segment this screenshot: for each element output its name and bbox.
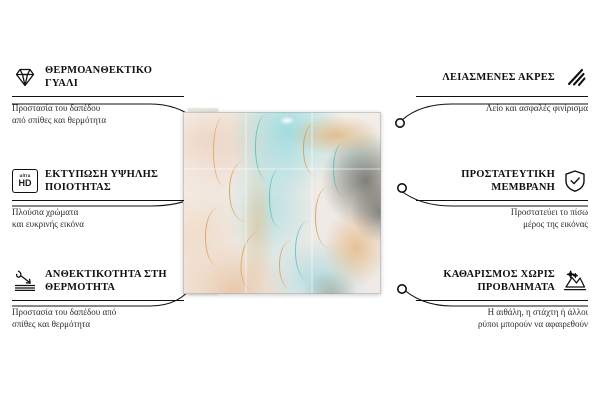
polished-edges-icon — [562, 64, 588, 90]
feature-title: ΚΑΘΑΡΙΣΜΟΣ ΧΩΡΙΣ ΠΡΟΒΛΗΜΑΤΑ — [416, 268, 555, 294]
desc-line: Προστατεύει το πίσω — [416, 206, 588, 218]
hd-label: HD — [19, 179, 32, 188]
feature-description: Λείο και ασφαλές φινίρισμα — [416, 102, 588, 114]
feature-description: Προστατεύει το πίσω μέρος της εικόνας — [416, 206, 588, 230]
feature-easy-cleaning: ΚΑΘΑΡΙΣΜΟΣ ΧΩΡΙΣ ΠΡΟΒΛΗΜΑΤΑ Η αιθάλη, η … — [416, 266, 588, 330]
easy-clean-icon — [562, 268, 588, 294]
desc-line: Η αιθάλη, η στάχτη ή άλλοι — [416, 306, 588, 318]
heat-deflection-icon — [12, 268, 38, 294]
feature-description: Η αιθάλη, η στάχτη ή άλλοι ρύποι μπορούν… — [416, 306, 588, 330]
divider — [416, 96, 588, 97]
feature-heat-resistant-glass: ΘΕΡΜΟΑΝΘΕΚΤΙΚΟ ΓΥΑΛΙ Προστασία του δαπέδ… — [12, 62, 184, 126]
divider — [416, 200, 588, 201]
ultra-hd-icon: ultra HD — [12, 169, 38, 193]
feature-title: ΛΕΙΑΣΜΕΝΕΣ ΑΚΡΕΣ — [416, 71, 555, 84]
desc-line: Προστασία του δαπέδου από — [12, 306, 184, 318]
desc-line: ρύποι μπορούν να αφαιρεθούν — [416, 318, 588, 330]
feature-high-quality-print: ultra HD ΕΚΤΥΠΩΣΗ ΥΨΗΛΗΣ ΠΟΙΟΤΗΤΑΣ Πλούσ… — [12, 166, 184, 230]
feature-heat-durability: ΑΝΘΕΚΤΙΚΟΤΗΤΑ ΣΤΗ ΘΕΡΜΟΤΗΤΑ Προστασία το… — [12, 266, 184, 330]
desc-line: σπίθες και θερμότητα — [12, 318, 184, 330]
desc-line: και ευκρινής εικόνα — [12, 218, 184, 230]
divider — [12, 300, 184, 301]
diamond-icon — [12, 64, 38, 90]
highlight-spot — [279, 116, 295, 125]
infographic-root: ΘΕΡΜΟΑΝΘΕΚΤΙΚΟ ΓΥΑΛΙ Προστασία του δαπέδ… — [0, 0, 600, 400]
desc-line: από σπίθες και θερμότητα — [12, 114, 184, 126]
artwork — [183, 112, 381, 294]
desc-line: μέρος της εικόνας — [416, 218, 588, 230]
feature-title: ΠΡΟΣΤΑΤΕΥΤΙΚΗ ΜΕΜΒΡΑΝΗ — [416, 168, 555, 194]
feature-description: Προστασία του δαπέδου από σπίθες και θερ… — [12, 306, 184, 330]
divider — [416, 300, 588, 301]
divider — [12, 200, 184, 201]
desc-line: Πλούσια χρώματα — [12, 206, 184, 218]
desc-line: Προστασία του δαπέδου — [12, 102, 184, 114]
feature-description: Πλούσια χρώματα και ευκρινής εικόνα — [12, 206, 184, 230]
feature-protective-membrane: ΠΡΟΣΤΑΤΕΥΤΙΚΗ ΜΕΜΒΡΑΝΗ Προστατεύει το πί… — [416, 166, 588, 230]
glass-panel — [183, 112, 381, 294]
connector-dot-right-2 — [398, 184, 406, 192]
desc-line: Λείο και ασφαλές φινίρισμα — [416, 102, 588, 114]
connector-dot-right-3 — [398, 285, 406, 293]
artwork-veins — [183, 112, 381, 294]
feature-title: ΑΝΘΕΚΤΙΚΟΤΗΤΑ ΣΤΗ ΘΕΡΜΟΤΗΤΑ — [45, 268, 184, 294]
feature-title: ΕΚΤΥΠΩΣΗ ΥΨΗΛΗΣ ΠΟΙΟΤΗΤΑΣ — [45, 168, 184, 194]
feature-description: Προστασία του δαπέδου από σπίθες και θερ… — [12, 102, 184, 126]
divider — [12, 96, 184, 97]
feature-polished-edges: ΛΕΙΑΣΜΕΝΕΣ ΑΚΡΕΣ Λείο και ασφαλές φινίρι… — [416, 62, 588, 114]
shield-check-icon — [562, 168, 588, 194]
feature-title: ΘΕΡΜΟΑΝΘΕΚΤΙΚΟ ΓΥΑΛΙ — [45, 64, 184, 90]
product-image — [183, 112, 398, 294]
